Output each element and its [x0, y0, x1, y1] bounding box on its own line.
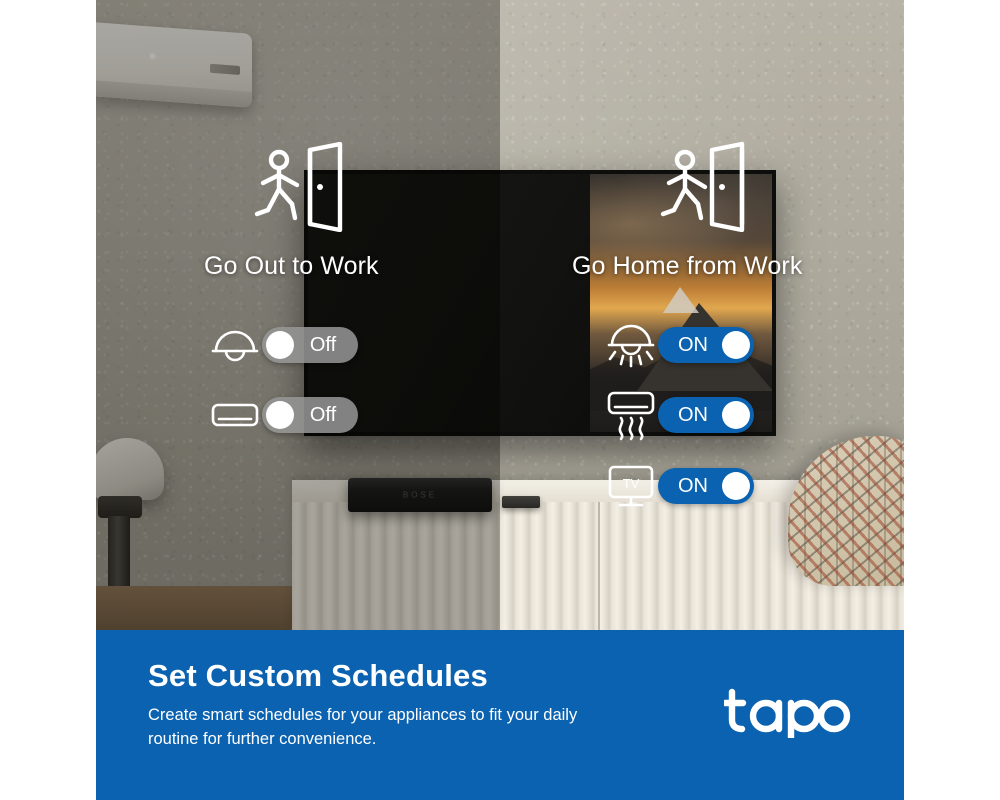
air-conditioner-off-icon [208, 388, 262, 442]
toggle-state-label: Off [294, 334, 358, 357]
toggle-knob [722, 472, 750, 500]
room-photo: BOSE [96, 0, 904, 630]
device-row-lamp-left: Off [208, 318, 358, 372]
toggle-state-label: ON [658, 475, 722, 498]
toggle-ac-left[interactable]: Off [262, 397, 358, 433]
lamp-on-icon [604, 318, 658, 372]
toggle-tv-right[interactable]: ON [658, 468, 754, 504]
toggle-state-label: Off [294, 404, 358, 427]
toggle-state-label: ON [658, 404, 722, 427]
air-conditioner-on-icon [604, 388, 658, 442]
banner-description: Create smart schedules for your applianc… [148, 704, 618, 752]
product-feature-image: BOSE [0, 0, 1000, 800]
device-row-ac-left: Off [208, 388, 358, 442]
device-row-lamp-right: ON [604, 318, 754, 372]
scene-overlay: Go Out to Work Off [96, 0, 904, 630]
toggle-knob [722, 331, 750, 359]
lamp-off-icon [208, 318, 262, 372]
toggle-ac-right[interactable]: ON [658, 397, 754, 433]
person-exit-door-icon [248, 142, 356, 237]
promo-banner: Set Custom Schedules Create smart schedu… [96, 630, 904, 800]
toggle-knob [266, 401, 294, 429]
toggle-knob [266, 331, 294, 359]
tv-icon: TV [604, 459, 658, 513]
toggle-lamp-right[interactable]: ON [658, 327, 754, 363]
tv-icon-label: TV [623, 476, 640, 491]
scene-title-go-out: Go Out to Work [204, 252, 379, 281]
tapo-logo: tapo [724, 686, 852, 743]
person-enter-door-icon [654, 142, 762, 237]
device-row-ac-right: ON [604, 388, 754, 442]
banner-heading: Set Custom Schedules [148, 658, 488, 694]
toggle-knob [722, 401, 750, 429]
scene-title-go-home: Go Home from Work [572, 252, 802, 281]
device-row-tv-right: TV ON [604, 459, 754, 513]
toggle-state-label: ON [658, 334, 722, 357]
toggle-lamp-left[interactable]: Off [262, 327, 358, 363]
